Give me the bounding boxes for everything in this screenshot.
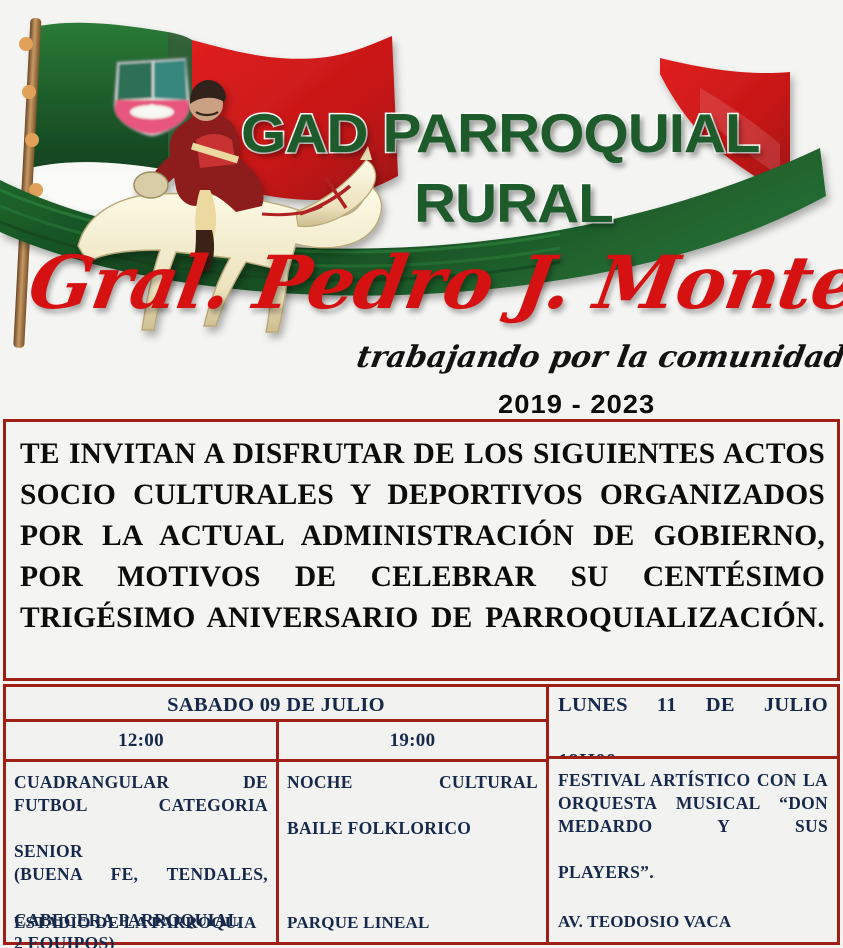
- event-a-line-5: 2 EQUIPOS): [14, 932, 268, 948]
- event-b-venue: PARQUE LINEAL: [287, 913, 430, 933]
- schedule-date-header-monday-line1: LUNES 11 DE JULIO: [558, 691, 828, 747]
- event-a-line-2: SENIOR: [14, 840, 268, 863]
- schedule-time-col-b: 19:00: [276, 719, 549, 762]
- schedule-time-col-a: 12:00: [3, 719, 279, 762]
- event-a-venue: ESTADIO DE LA PARROQUIA: [14, 913, 256, 933]
- event-a-line-1: CUADRANGULAR DE FUTBOL CATEGORIA: [14, 771, 268, 840]
- flag-and-horseman-logo-icon: [0, 0, 843, 418]
- header-logo-banner: GAD PARROQUIAL RURAL Gral. Pedro J. Mont…: [0, 0, 843, 418]
- schedule-date-header-saturday: SABADO 09 DE JULIO: [3, 684, 549, 722]
- event-c-line-1: FESTIVAL ARTÍSTICO CON LA ORQUESTA MUSIC…: [558, 769, 828, 861]
- invitation-block: TE INVITAN A DISFRUTAR DE LOS SIGUIENTES…: [3, 419, 840, 681]
- schedule-event-col-c: FESTIVAL ARTÍSTICO CON LA ORQUESTA MUSIC…: [546, 756, 840, 945]
- event-c-line-2: PLAYERS”.: [558, 861, 828, 884]
- invitation-text: TE INVITAN A DISFRUTAR DE LOS SIGUIENTES…: [20, 434, 825, 680]
- event-poster: GAD PARROQUIAL RURAL Gral. Pedro J. Mont…: [0, 0, 843, 948]
- schedule-table: SABADO 09 DE JULIO LUNES 11 DE JULIO 19H…: [3, 684, 840, 945]
- event-b-line-1: NOCHE CULTURAL: [287, 771, 538, 817]
- coat-of-arms-icon: [114, 58, 190, 136]
- event-b-line-2: BAILE FOLKLORICO: [287, 817, 538, 840]
- event-c-venue: AV. TEODOSIO VACA: [558, 912, 731, 932]
- schedule-date-header-monday: LUNES 11 DE JULIO 19H00: [546, 684, 840, 759]
- schedule-event-col-a: CUADRANGULAR DE FUTBOL CATEGORIA SENIOR …: [3, 759, 279, 945]
- schedule-event-col-b: NOCHE CULTURAL BAILE FOLKLORICO PARQUE L…: [276, 759, 549, 945]
- event-a-line-3: (BUENA FE, TENDALES,: [14, 863, 268, 909]
